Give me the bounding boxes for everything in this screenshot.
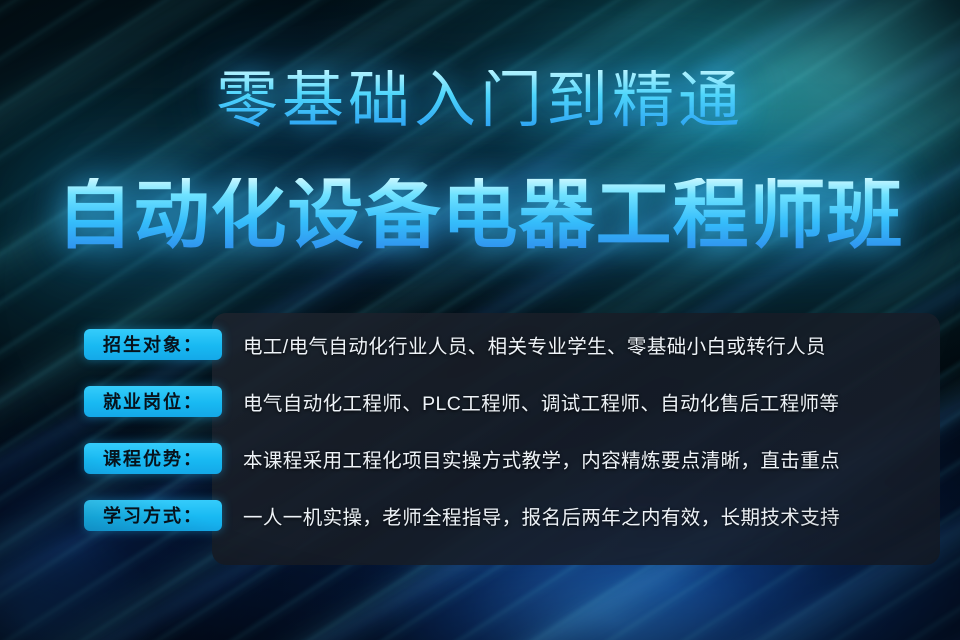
info-row: 招生对象： 电工/电气自动化行业人员、相关专业学生、零基础小白或转行人员	[0, 325, 960, 363]
info-row-label-badge: 课程优势：	[84, 443, 222, 474]
info-row-list: 招生对象： 电工/电气自动化行业人员、相关专业学生、零基础小白或转行人员 就业岗…	[0, 325, 960, 534]
info-row-label-badge: 学习方式：	[84, 500, 222, 531]
info-row-value: 电气自动化工程师、PLC工程师、调试工程师、自动化售后工程师等	[243, 387, 839, 416]
info-row-value: 电工/电气自动化行业人员、相关专业学生、零基础小白或转行人员	[243, 330, 826, 359]
info-row-value: 本课程采用工程化项目实操方式教学，内容精炼要点清晰，直击重点	[243, 444, 840, 473]
info-row: 学习方式： 一人一机实操，老师全程指导，报名后两年之内有效，长期技术支持	[0, 496, 960, 534]
page-title: 自动化设备电器工程师班	[0, 178, 960, 254]
info-row-value: 一人一机实操，老师全程指导，报名后两年之内有效，长期技术支持	[243, 501, 840, 530]
course-promo-banner: 零基础入门到精通 自动化设备电器工程师班 招生对象： 电工/电气自动化行业人员、…	[0, 0, 960, 640]
info-row-label-badge: 就业岗位：	[84, 386, 222, 417]
info-row: 课程优势： 本课程采用工程化项目实操方式教学，内容精炼要点清晰，直击重点	[0, 439, 960, 477]
info-row-label-badge: 招生对象：	[84, 329, 222, 360]
info-row: 就业岗位： 电气自动化工程师、PLC工程师、调试工程师、自动化售后工程师等	[0, 382, 960, 420]
headline-text: 零基础入门到精通	[0, 70, 960, 132]
